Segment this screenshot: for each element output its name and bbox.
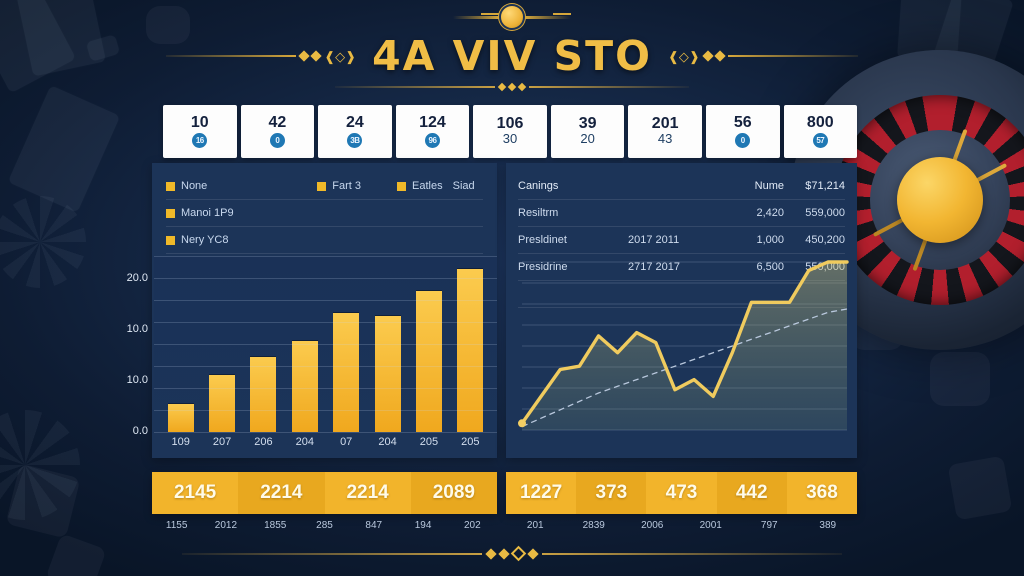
legend-label: Manoi 1P9 <box>181 207 234 219</box>
table-row[interactable]: Presldinet2017 20111,000450,200 <box>518 227 845 254</box>
table-cell: 1,000 <box>720 234 784 246</box>
metric-sublabel: 202 <box>448 520 497 536</box>
bar[interactable] <box>250 357 276 432</box>
diamond-icon <box>527 548 538 559</box>
legend-label: None <box>181 180 207 192</box>
chip-cluster-decor <box>930 352 990 406</box>
diamond-icon <box>714 50 725 61</box>
kpi-card[interactable]: 243B <box>318 105 392 158</box>
x-axis-tick-label: 07 <box>326 436 367 448</box>
bar[interactable] <box>457 269 483 432</box>
rule-line <box>335 86 495 88</box>
bar-chart-x-axis: 10920720620407204205205 <box>154 436 497 448</box>
y-axis-tick-label: 0.0 <box>133 425 148 437</box>
kpi-value: 800 <box>807 115 834 132</box>
rule-line <box>182 553 482 555</box>
gridline <box>154 388 497 389</box>
kpi-card-row: 1016420243B124961063039202014356080057 <box>163 105 857 158</box>
metric-cell[interactable]: 2089 <box>411 472 497 514</box>
crest-wing-right <box>525 16 571 19</box>
title-rule-right: ❰◇❱ <box>668 50 858 63</box>
kpi-value: 56 <box>734 115 752 132</box>
metric-sublabel: 2839 <box>565 520 624 536</box>
kpi-value: 24 <box>346 115 364 132</box>
footer-divider <box>0 548 1024 559</box>
legend-swatch-icon <box>166 236 175 245</box>
metric-cell[interactable]: 2145 <box>152 472 238 514</box>
metric-strip-left-sublabels: 115520121855285847194202 <box>152 520 497 536</box>
kpi-subvalue: 30 <box>503 132 517 147</box>
legend-item[interactable]: Fart 3 <box>317 180 361 192</box>
legend-swatch-icon <box>397 182 406 191</box>
x-axis-tick-label: 206 <box>243 436 284 448</box>
metric-strip-right: 1227373473442368 <box>506 472 857 514</box>
metric-cell[interactable]: 2214 <box>325 472 411 514</box>
metric-sublabel: 194 <box>398 520 447 536</box>
kpi-value: 10 <box>191 115 209 132</box>
x-axis-tick-label: 205 <box>450 436 491 448</box>
x-axis-tick-label: 207 <box>201 436 242 448</box>
legend-swatch-icon <box>166 209 175 218</box>
title-rule-left: ❰◇❱ <box>166 50 356 63</box>
legend-item[interactable]: Siad <box>453 180 475 192</box>
diamond-icon <box>485 548 496 559</box>
metric-sublabel: 201 <box>506 520 565 536</box>
kpi-card[interactable]: 80057 <box>784 105 858 158</box>
chevron-left-icon: ❰◇❱ <box>668 50 700 63</box>
metric-cell[interactable]: 1227 <box>506 472 576 514</box>
metric-strip-left: 2145221422142089 <box>152 472 497 514</box>
legend-row: Nery YC8 <box>166 227 483 254</box>
kpi-value: 106 <box>497 116 524 133</box>
kpi-card[interactable]: 10630 <box>473 105 547 158</box>
kpi-card[interactable]: 560 <box>706 105 780 158</box>
gridline <box>154 344 497 345</box>
y-axis-tick-label: 10.0 <box>127 323 148 335</box>
metric-sublabel: 2012 <box>201 520 250 536</box>
kpi-subvalue: 43 <box>658 132 672 147</box>
gridline <box>154 278 497 279</box>
metric-sublabel: 389 <box>799 520 858 536</box>
title-underline-ornament <box>335 84 689 90</box>
legend-row: NoneFart 3EatlesSiad <box>166 173 483 200</box>
metric-sublabel: 847 <box>349 520 398 536</box>
legend-label: Siad <box>453 180 475 192</box>
diamond-icon <box>702 50 713 61</box>
kpi-value: 42 <box>268 115 286 132</box>
diamond-icon <box>299 50 310 61</box>
bar-chart: 20.010.010.00.0 10920720620407204205205 <box>96 256 497 458</box>
table-cell: $71,214 <box>784 180 845 192</box>
legend-row: Manoi 1P9 <box>166 200 483 227</box>
legend-item[interactable]: Nery YC8 <box>166 234 228 246</box>
bar-chart-y-axis: 20.010.010.00.0 <box>96 256 154 432</box>
dashboard-header: ❰◇❱ 4A VIV STO ❰◇❱ <box>0 0 1024 96</box>
table-row[interactable]: Resiltrm2,420559,000 <box>518 200 845 227</box>
diamond-icon <box>498 83 506 91</box>
kpi-badge-icon: 3B <box>347 133 362 148</box>
chevron-right-icon: ❰◇❱ <box>324 50 356 63</box>
kpi-card[interactable]: 1016 <box>163 105 237 158</box>
rule-line <box>728 55 858 57</box>
bar[interactable] <box>168 404 194 432</box>
legend-swatch-icon <box>166 182 175 191</box>
kpi-value: 124 <box>419 115 446 132</box>
crest-orb <box>501 6 523 28</box>
y-axis-tick-label: 10.0 <box>127 374 148 386</box>
line-chart <box>506 256 857 458</box>
line-chart-svg <box>506 256 857 458</box>
kpi-card[interactable]: 20143 <box>628 105 702 158</box>
page-title: 4A VIV STO <box>372 32 652 80</box>
rule-line <box>166 55 296 57</box>
kpi-card[interactable]: 3920 <box>551 105 625 158</box>
metric-sublabel: 285 <box>300 520 349 536</box>
kpi-subvalue: 20 <box>580 132 594 147</box>
gridline <box>154 432 497 433</box>
table-cell: Presldinet <box>518 234 628 246</box>
legend-label: Fart 3 <box>332 180 361 192</box>
legend-label: Nery YC8 <box>181 234 228 246</box>
crest-wing-left <box>453 16 499 19</box>
kpi-badge-icon: 16 <box>192 133 207 148</box>
table-cell: 450,200 <box>784 234 845 246</box>
roulette-hub <box>897 157 983 243</box>
legend-label: Eatles <box>412 180 443 192</box>
table-header-row: CaningsNume$71,214 <box>518 173 845 200</box>
bar[interactable] <box>333 313 359 432</box>
x-axis-tick-label: 205 <box>408 436 449 448</box>
legend-item[interactable]: Eatles <box>397 180 443 192</box>
gridline <box>154 256 497 257</box>
metric-cell[interactable]: 442 <box>717 472 787 514</box>
bar[interactable] <box>292 341 318 432</box>
metric-strip-right-sublabels: 201283920062001797389 <box>506 520 857 536</box>
metric-sublabel: 797 <box>740 520 799 536</box>
kpi-card[interactable]: 420 <box>241 105 315 158</box>
metric-cell[interactable]: 2214 <box>238 472 324 514</box>
kpi-badge-icon: 0 <box>735 133 750 148</box>
gridline <box>154 366 497 367</box>
metric-cell[interactable]: 473 <box>646 472 716 514</box>
x-axis-tick-label: 204 <box>284 436 325 448</box>
gridline <box>154 300 497 301</box>
kpi-value: 39 <box>579 116 597 133</box>
diamond-outline-icon <box>511 546 527 562</box>
x-axis-tick-label: 109 <box>160 436 201 448</box>
legend-swatch-icon <box>317 182 326 191</box>
kpi-badge-icon: 57 <box>813 133 828 148</box>
table-cell: Nume <box>720 180 784 192</box>
rule-line <box>542 553 842 555</box>
metric-sublabel: 1855 <box>251 520 300 536</box>
metric-cell[interactable]: 368 <box>787 472 857 514</box>
rule-line <box>529 86 689 88</box>
diamond-icon <box>311 50 322 61</box>
diamond-icon <box>518 83 526 91</box>
title-row: ❰◇❱ 4A VIV STO ❰◇❱ <box>0 32 1024 80</box>
x-axis-tick-label: 204 <box>367 436 408 448</box>
kpi-badge-icon: 0 <box>270 133 285 148</box>
gridline <box>154 322 497 323</box>
bar[interactable] <box>375 316 401 432</box>
line-chart-start-marker <box>518 419 526 427</box>
diamond-icon <box>498 548 509 559</box>
table-cell: 2,420 <box>720 207 784 219</box>
metric-sublabel: 1155 <box>152 520 201 536</box>
kpi-value: 201 <box>652 116 679 133</box>
metric-sublabel: 2001 <box>682 520 741 536</box>
gridline <box>154 410 497 411</box>
table-cell: Canings <box>518 180 628 192</box>
bar[interactable] <box>209 375 235 432</box>
kpi-badge-icon: 96 <box>425 133 440 148</box>
table-cell: 559,000 <box>784 207 845 219</box>
winged-orb-icon <box>453 6 571 28</box>
y-axis-tick-label: 20.0 <box>127 272 148 284</box>
diamond-icon <box>508 83 516 91</box>
dice-decor <box>948 456 1013 521</box>
legend-item[interactable]: None <box>166 180 207 192</box>
kpi-card[interactable]: 12496 <box>396 105 470 158</box>
metric-cell[interactable]: 373 <box>576 472 646 514</box>
metric-sublabel: 2006 <box>623 520 682 536</box>
legend-item[interactable]: Manoi 1P9 <box>166 207 234 219</box>
table-cell: 2017 2011 <box>628 234 720 246</box>
bar-chart-plot-area <box>154 256 497 432</box>
table-cell: Resiltrm <box>518 207 628 219</box>
